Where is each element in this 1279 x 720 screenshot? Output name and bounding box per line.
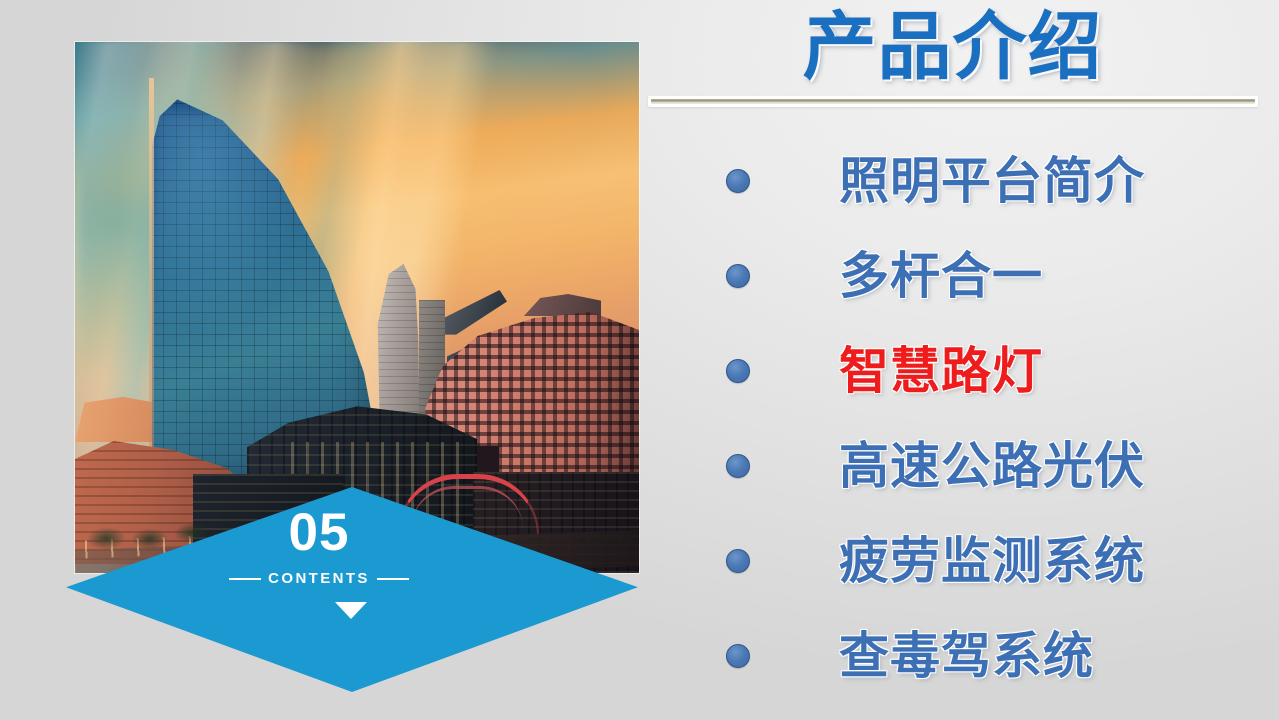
rule-right (377, 578, 409, 580)
rule-left (229, 578, 261, 580)
agenda-list: 照明平台简介 多杆合一 智慧路灯 高速公路光伏 疲劳监测系统 查毒驾系统 (646, 133, 1266, 703)
presentation-slide: 05 CONTENTS 产品介绍 照明平台简介 多杆合一 智慧路灯 高速公路光伏… (0, 0, 1279, 720)
bullet-dot-icon (726, 644, 750, 668)
contents-label: CONTENTS (268, 570, 370, 587)
bullet-dot-icon (726, 454, 750, 478)
list-item[interactable]: 照明平台简介 (646, 133, 1266, 228)
list-item-label-highlighted: 智慧路灯 (839, 346, 1043, 396)
title-divider (648, 96, 1258, 107)
caret-down-icon (335, 602, 367, 619)
bullet-dot-icon (726, 264, 750, 288)
contents-label-row: CONTENTS (0, 570, 638, 587)
page-title: 产品介绍 (646, 6, 1259, 87)
section-number: 05 (0, 506, 638, 559)
list-item[interactable]: 高速公路光伏 (646, 418, 1266, 513)
glass-tower-highlight (155, 112, 305, 342)
bullet-dot-icon (726, 549, 750, 573)
list-item[interactable]: 智慧路灯 (646, 323, 1266, 418)
bullet-dot-icon (726, 359, 750, 383)
list-item[interactable]: 疲劳监测系统 (646, 513, 1266, 608)
glass-tower-edge (149, 78, 154, 488)
bullet-dot-icon (726, 169, 750, 193)
list-item[interactable]: 多杆合一 (646, 228, 1266, 323)
list-item-label: 高速公路光伏 (839, 441, 1145, 491)
list-item-label: 多杆合一 (839, 251, 1043, 301)
list-item-label: 照明平台简介 (839, 156, 1145, 206)
list-item[interactable]: 查毒驾系统 (646, 608, 1266, 703)
list-item-label: 查毒驾系统 (839, 631, 1094, 681)
list-item-label: 疲劳监测系统 (839, 536, 1145, 586)
